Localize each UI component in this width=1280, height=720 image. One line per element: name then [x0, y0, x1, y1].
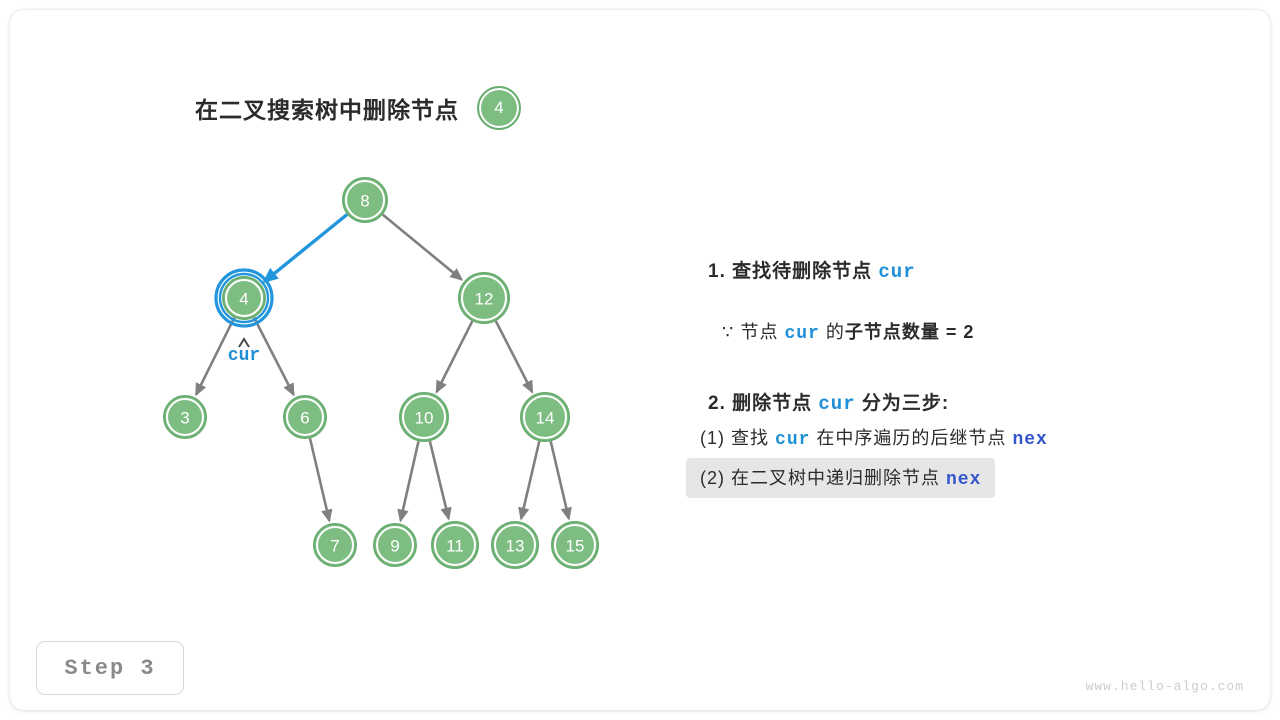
- substep-2-nex-var: nex: [946, 470, 981, 490]
- node-value-label: 8: [360, 192, 369, 211]
- substep-1-cur-var: cur: [775, 430, 810, 450]
- tree-edge: [310, 438, 329, 520]
- node-value-label: 9: [390, 537, 399, 556]
- tree-node[interactable]: 9: [374, 524, 416, 566]
- tree-node[interactable]: 13: [492, 522, 538, 568]
- tree-node[interactable]: 4: [216, 270, 272, 326]
- tree-edge: [264, 214, 347, 281]
- reason-line: ∵ 节点 cur 的子节点数量 = 2: [722, 318, 974, 344]
- substep-1-index: (1): [700, 428, 731, 448]
- tree-edges: [196, 214, 569, 520]
- tree-node[interactable]: 7: [314, 524, 356, 566]
- step2-prefix: 2. 删除节点: [708, 393, 818, 414]
- tree-edge: [383, 215, 462, 280]
- watermark: www.hello-algo.com: [1086, 679, 1244, 694]
- tree-edge: [437, 321, 473, 392]
- node-value-label: 15: [566, 537, 585, 556]
- substep-1-line: (1) 查找 cur 在中序遍历的后继节点 nex: [700, 424, 1048, 450]
- node-value-label: 3: [180, 409, 189, 428]
- tree-edge: [521, 441, 539, 518]
- node-value-label: 10: [415, 409, 434, 428]
- step2-suffix: 分为三步:: [856, 393, 950, 414]
- tree-edge: [496, 321, 532, 392]
- node-value-label: 13: [506, 537, 525, 556]
- node-value-label: 6: [300, 409, 309, 428]
- reason-pre: 节点: [734, 322, 784, 342]
- figure-card: 在二叉搜索树中删除节点 4 841236101479111315 cur 1. …: [10, 10, 1270, 710]
- substep-1-mid: 在中序遍历的后继节点: [810, 428, 1012, 448]
- cur-pointer-label: cur: [228, 346, 260, 366]
- tree-nodes: 841236101479111315: [164, 178, 598, 568]
- tree-edge: [401, 441, 419, 520]
- substep-2-index: (2): [700, 468, 731, 488]
- step1-line: 1. 查找待删除节点 cur: [708, 256, 916, 283]
- substep-1-pre: 查找: [731, 428, 775, 448]
- step1-prefix: 1. 查找待删除节点: [708, 261, 878, 282]
- step1-cur-var: cur: [878, 261, 915, 283]
- step-badge: Step 3: [36, 641, 184, 695]
- node-value-label: 12: [475, 290, 494, 309]
- binary-search-tree-diagram: 841236101479111315 cur: [10, 10, 670, 610]
- reason-cur-var: cur: [784, 324, 819, 344]
- step2-cur-var: cur: [818, 393, 855, 415]
- tree-node[interactable]: 8: [343, 178, 387, 222]
- node-value-label: 14: [536, 409, 555, 428]
- step-badge-label: Step 3: [64, 656, 155, 681]
- node-value-label: 11: [446, 537, 464, 556]
- substep-2-pre: 在二叉树中递归删除节点: [731, 468, 946, 488]
- substep-2-line-highlighted: (2) 在二叉树中递归删除节点 nex: [686, 458, 995, 498]
- reason-post: = 2: [940, 322, 975, 342]
- tree-node[interactable]: 3: [164, 396, 206, 438]
- step2-line: 2. 删除节点 cur 分为三步:: [708, 388, 949, 415]
- tree-node[interactable]: 15: [552, 522, 598, 568]
- node-value-label: 7: [330, 537, 339, 556]
- because-symbol: ∵: [722, 322, 734, 342]
- tree-node[interactable]: 12: [459, 273, 509, 323]
- tree-node[interactable]: 11: [432, 522, 478, 568]
- tree-node[interactable]: 14: [521, 393, 569, 441]
- reason-mid: 的: [820, 322, 845, 342]
- tree-node[interactable]: 6: [284, 396, 326, 438]
- tree-edge: [430, 441, 449, 518]
- reason-bold-seg: 子节点数量: [845, 322, 940, 342]
- cur-pointer-annotation: cur: [228, 339, 260, 366]
- tree-edge: [551, 441, 569, 518]
- node-value-label: 4: [239, 290, 248, 309]
- substep-1-nex-var: nex: [1012, 430, 1047, 450]
- tree-node[interactable]: 10: [400, 393, 448, 441]
